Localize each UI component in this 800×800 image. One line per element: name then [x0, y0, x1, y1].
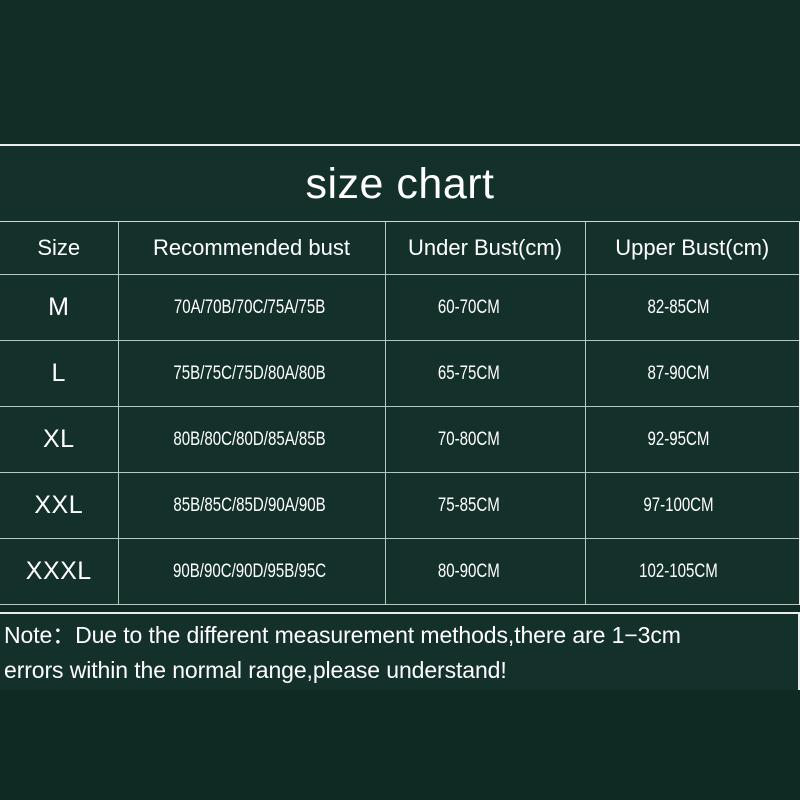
bottom-spacer-band: [0, 690, 800, 800]
cell-recommended-bust-text: 80B/80C/80D/85A/85B: [146, 429, 357, 451]
cell-under-bust-text: 75-85CM: [406, 495, 564, 517]
cell-size: L: [0, 341, 118, 407]
table-row: XXL 85B/85C/85D/90A/90B 75-85CM 97-100CM: [0, 473, 800, 539]
cell-under-bust-text: 60-70CM: [406, 297, 564, 319]
cell-under-bust-text: 70-80CM: [406, 429, 564, 451]
note-block: Note：Due to the different measurement me…: [0, 612, 800, 690]
table-header-row: Size Recommended bust Under Bust(cm) Upp…: [0, 222, 800, 275]
table-row: M 70A/70B/70C/75A/75B 60-70CM 82-85CM: [0, 275, 800, 341]
cell-recommended-bust: 90B/90C/90D/95B/95C: [134, 539, 369, 605]
column-header-size: Size: [0, 222, 118, 275]
cell-size: XXXL: [0, 539, 118, 605]
cell-under-bust: 60-70CM: [397, 275, 573, 341]
cell-recommended-bust-text: 75B/75C/75D/80A/80B: [146, 363, 357, 385]
table-row: XL 80B/80C/80D/85A/85B 70-80CM 92-95CM: [0, 407, 800, 473]
cell-upper-bust-text: 87-90CM: [608, 363, 777, 385]
cell-upper-bust: 87-90CM: [598, 341, 787, 407]
note-line-2: errors within the normal range,please un…: [4, 653, 792, 688]
cell-upper-bust: 102-105CM: [598, 539, 787, 605]
cell-under-bust-text: 80-90CM: [406, 561, 564, 583]
size-chart-block: size chart Size Recommended bust Under B…: [0, 144, 800, 605]
cell-under-bust: 80-90CM: [397, 539, 573, 605]
cell-under-bust-text: 65-75CM: [406, 363, 564, 385]
column-header-under-bust: Under Bust(cm): [385, 222, 585, 275]
cell-under-bust: 65-75CM: [397, 341, 573, 407]
cell-upper-bust: 97-100CM: [598, 473, 787, 539]
size-chart-page: size chart Size Recommended bust Under B…: [0, 0, 800, 800]
cell-recommended-bust: 75B/75C/75D/80A/80B: [134, 341, 369, 407]
cell-under-bust: 70-80CM: [397, 407, 573, 473]
cell-size: XL: [0, 407, 118, 473]
note-line-1: Note：Due to the different measurement me…: [4, 618, 792, 653]
page-title: size chart: [0, 146, 800, 222]
cell-upper-bust-text: 97-100CM: [608, 495, 777, 517]
cell-recommended-bust: 80B/80C/80D/85A/85B: [134, 407, 369, 473]
cell-upper-bust: 92-95CM: [598, 407, 787, 473]
top-spacer-band: [0, 0, 800, 144]
cell-size: M: [0, 275, 118, 341]
cell-upper-bust: 82-85CM: [598, 275, 787, 341]
cell-recommended-bust-text: 85B/85C/85D/90A/90B: [146, 495, 357, 517]
cell-under-bust: 75-85CM: [397, 473, 573, 539]
column-header-recommended-bust: Recommended bust: [118, 222, 385, 275]
cell-recommended-bust-text: 70A/70B/70C/75A/75B: [146, 297, 357, 319]
cell-upper-bust-text: 92-95CM: [608, 429, 777, 451]
cell-size: XXL: [0, 473, 118, 539]
column-header-upper-bust: Upper Bust(cm): [585, 222, 800, 275]
cell-recommended-bust: 70A/70B/70C/75A/75B: [134, 275, 369, 341]
cell-recommended-bust: 85B/85C/85D/90A/90B: [134, 473, 369, 539]
table-row: L 75B/75C/75D/80A/80B 65-75CM 87-90CM: [0, 341, 800, 407]
size-chart-table: Size Recommended bust Under Bust(cm) Upp…: [0, 222, 800, 605]
cell-upper-bust-text: 82-85CM: [608, 297, 777, 319]
cell-upper-bust-text: 102-105CM: [608, 561, 777, 583]
table-row: XXXL 90B/90C/90D/95B/95C 80-90CM 102-105…: [0, 539, 800, 605]
cell-recommended-bust-text: 90B/90C/90D/95B/95C: [146, 561, 357, 583]
